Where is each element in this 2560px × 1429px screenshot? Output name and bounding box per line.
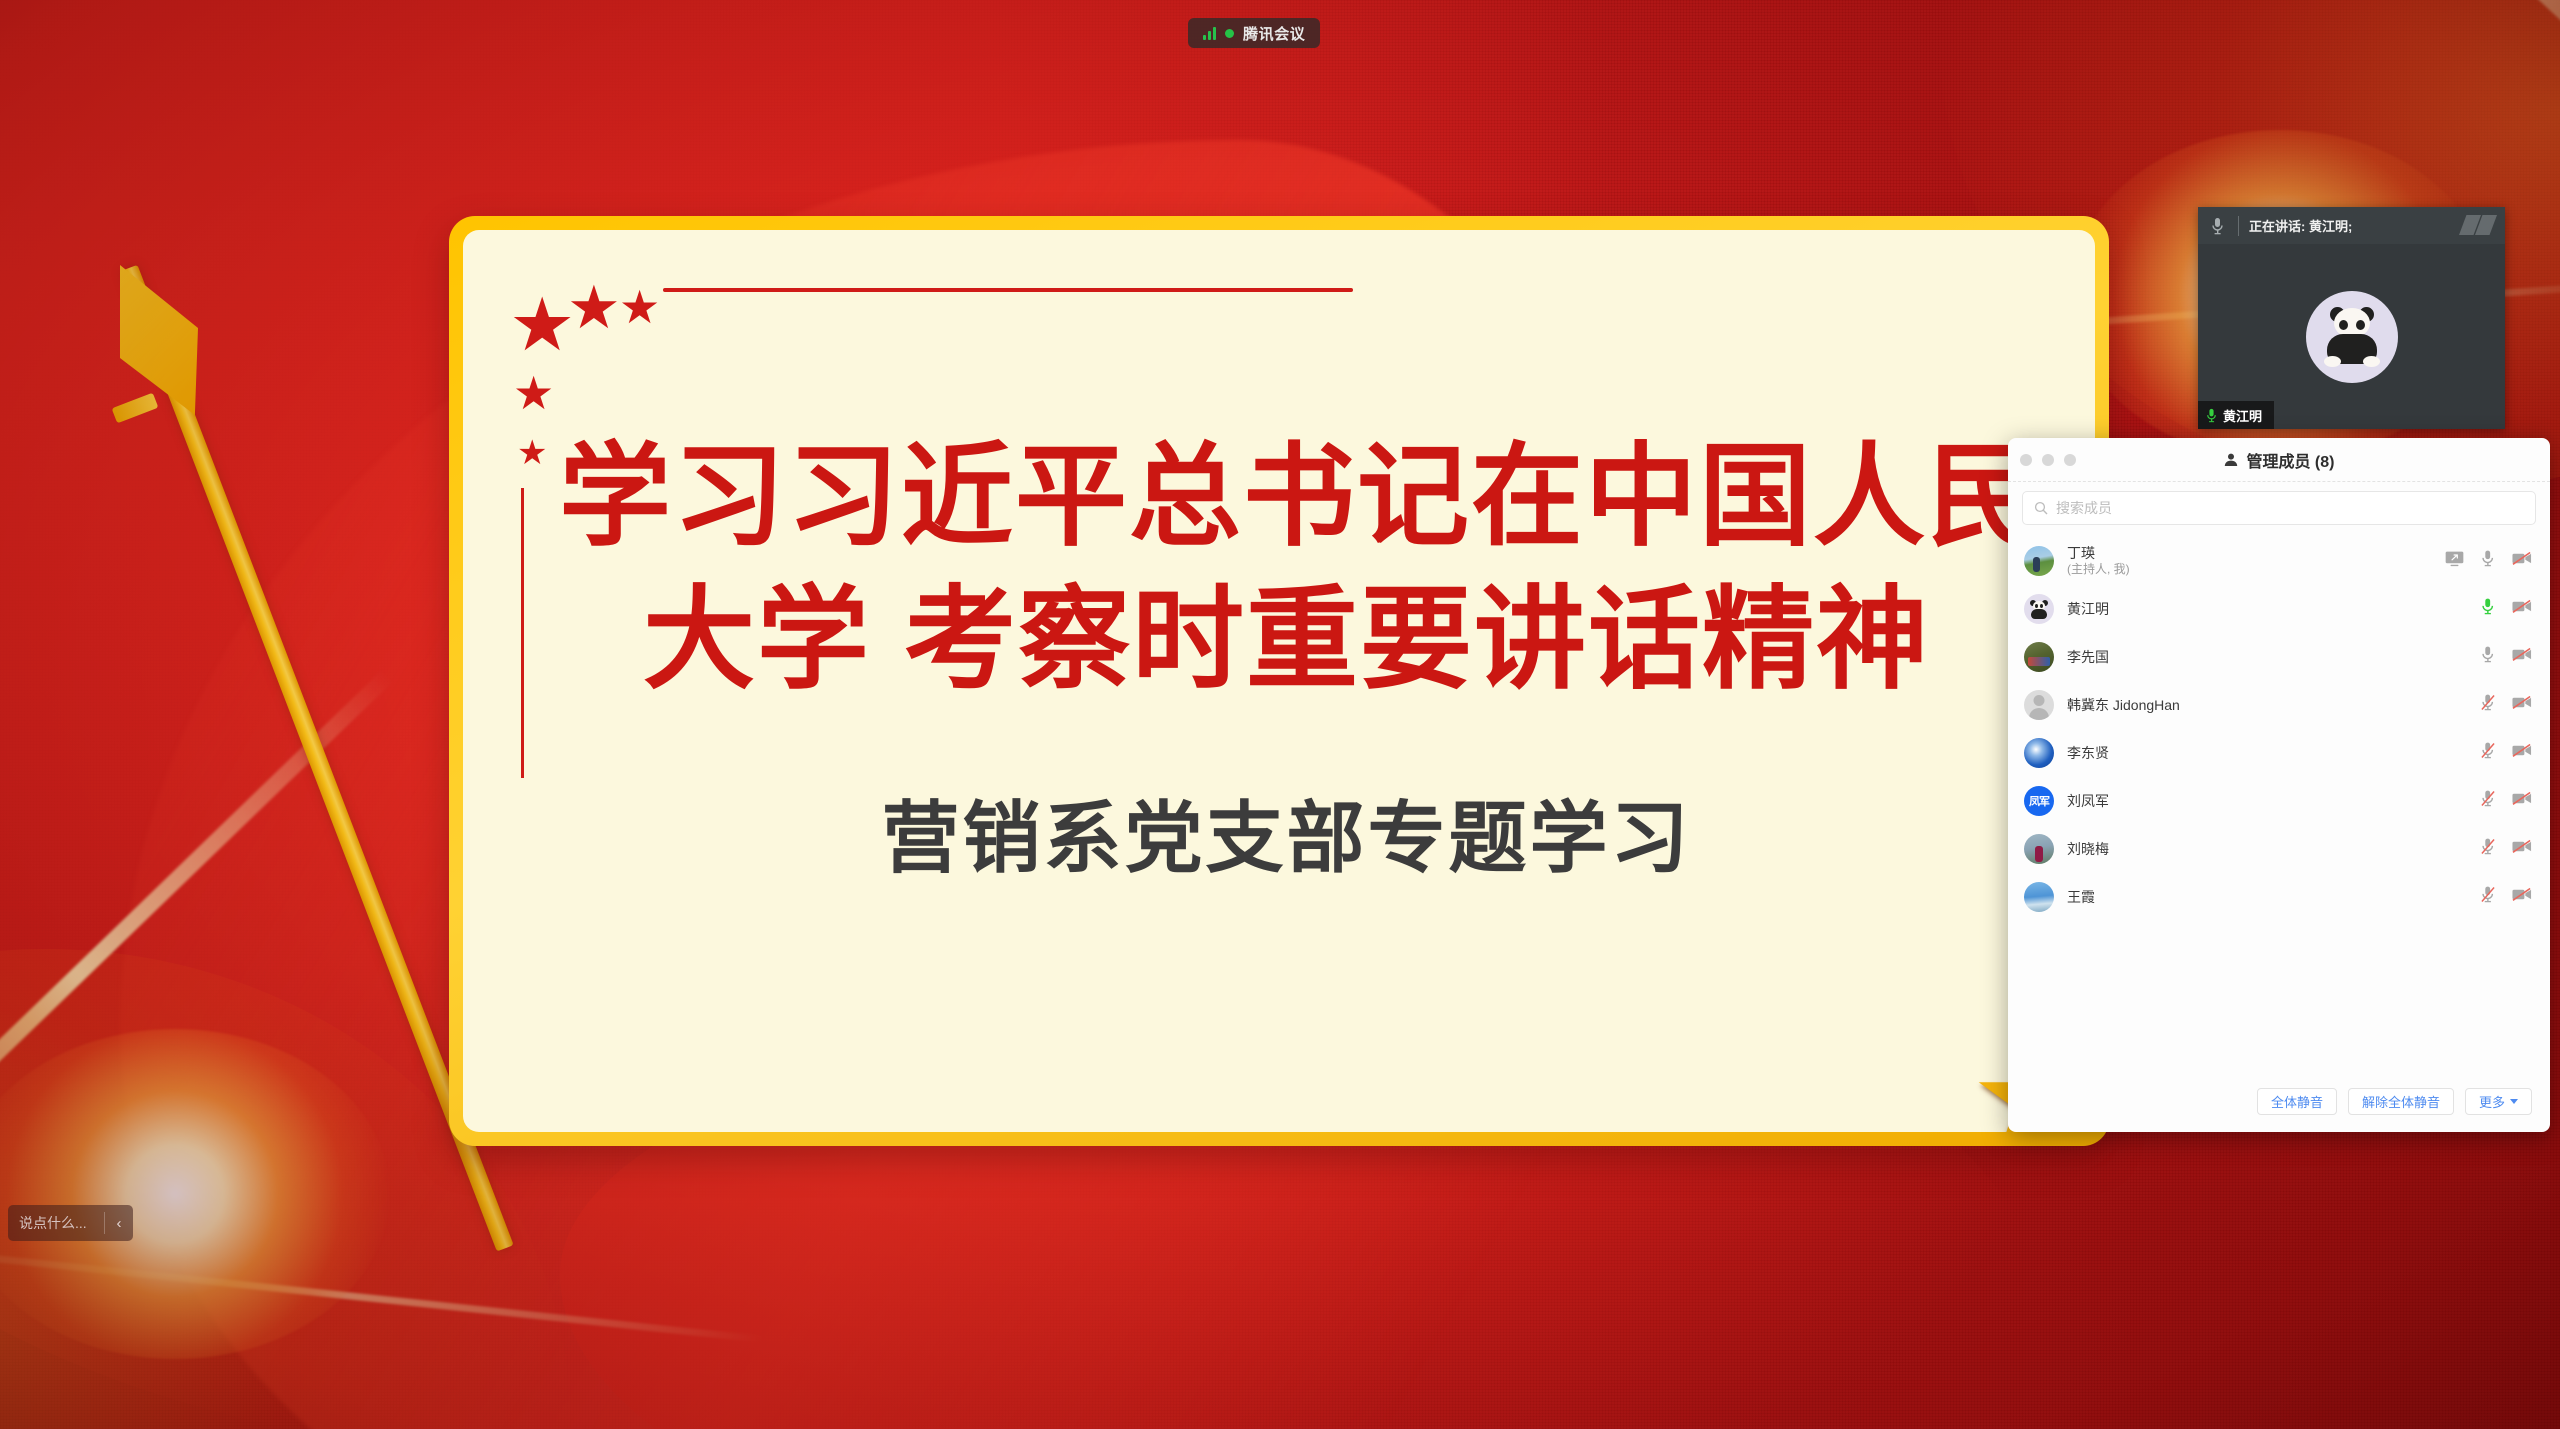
slide-title-line-2: 大学 考察时重要讲话精神 <box>559 568 2014 711</box>
microphone-muted-icon[interactable] <box>2481 741 2495 765</box>
member-name: 王霞 <box>2067 889 2481 905</box>
member-text: 王霞 <box>2067 889 2481 905</box>
avatar <box>2024 642 2054 672</box>
members-panel-title-group: 管理成员 (8) <box>2223 448 2334 472</box>
star-1-icon: ★ <box>509 288 575 362</box>
search-container: 搜索成员 <box>2008 482 2550 535</box>
member-name: 李先国 <box>2067 649 2481 665</box>
camera-off-icon[interactable] <box>2512 839 2532 859</box>
tencent-meeting-badge[interactable]: 腾讯会议 <box>1188 18 1320 48</box>
member-actions <box>2481 885 2532 909</box>
member-text: 丁瑛(主持人, 我) <box>2067 545 2445 578</box>
avatar <box>2024 690 2054 720</box>
slide-title-block: 学习习近平总书记在中国人民 大学 考察时重要讲话精神 营销系党支部专题学习 <box>559 425 2014 888</box>
avatar: 凤军 <box>2024 786 2054 816</box>
member-text: 刘晓梅 <box>2067 841 2481 857</box>
camera-off-icon[interactable] <box>2512 551 2532 571</box>
member-text: 刘凤军 <box>2067 793 2481 809</box>
member-actions <box>2481 837 2532 861</box>
screen-share-icon[interactable] <box>2445 551 2464 572</box>
member-text: 韩冀东 JidongHan <box>2067 697 2481 713</box>
member-actions <box>2481 597 2532 621</box>
microphone-icon <box>2206 217 2228 235</box>
member-name: 黄江明 <box>2067 601 2481 617</box>
member-actions <box>2481 693 2532 717</box>
member-name: 刘凤军 <box>2067 793 2481 809</box>
member-row[interactable]: 韩冀东 JidongHan <box>2008 681 2550 729</box>
slide-subtitle: 营销系党支部专题学习 <box>559 776 2014 888</box>
member-list[interactable]: 丁瑛(主持人, 我)黄江明李先国韩冀东 JidongHan李东贤凤军刘凤军刘晓梅… <box>2008 535 2550 1074</box>
member-row[interactable]: 王霞 <box>2008 873 2550 921</box>
video-participant-name-badge: 黄江明 <box>2198 401 2274 429</box>
search-input[interactable]: 搜索成员 <box>2022 491 2536 525</box>
microphone-muted-icon[interactable] <box>2481 789 2495 813</box>
microphone-active-icon <box>2206 408 2217 423</box>
chevron-down-icon <box>2510 1099 2518 1104</box>
member-actions <box>2481 645 2532 669</box>
collapse-chevron-icon[interactable]: ‹ <box>105 1215 133 1232</box>
chat-input-placeholder: 说点什么... <box>8 1213 104 1233</box>
microphone-muted-icon[interactable] <box>2481 693 2495 717</box>
avatar <box>2024 738 2054 768</box>
member-row[interactable]: 李东贤 <box>2008 729 2550 777</box>
slide-title-line-1: 学习习近平总书记在中国人民 <box>559 425 2014 568</box>
microphone-icon[interactable] <box>2481 597 2495 621</box>
member-name: 丁瑛 <box>2067 545 2445 561</box>
camera-off-icon[interactable] <box>2512 647 2532 667</box>
microphone-icon[interactable] <box>2481 645 2495 669</box>
mute-all-button[interactable]: 全体静音 <box>2257 1088 2337 1115</box>
signal-bars-icon <box>1203 26 1216 40</box>
speaking-label: 正在讲话: 黄江明; <box>2249 216 2352 235</box>
member-row[interactable]: 刘晓梅 <box>2008 825 2550 873</box>
video-participant-name: 黄江明 <box>2223 406 2262 425</box>
green-status-dot <box>1225 29 1234 38</box>
member-text: 黄江明 <box>2067 601 2481 617</box>
video-tile-header: 正在讲话: 黄江明; <box>2198 207 2505 244</box>
person-icon <box>2223 452 2239 468</box>
search-placeholder: 搜索成员 <box>2056 498 2112 518</box>
avatar <box>2024 834 2054 864</box>
panda-avatar <box>2306 291 2398 383</box>
member-row[interactable]: 李先国 <box>2008 633 2550 681</box>
member-name: 韩冀东 JidongHan <box>2067 697 2481 713</box>
more-button-label: 更多 <box>2479 1092 2505 1111</box>
microphone-icon[interactable] <box>2481 549 2495 573</box>
star-2-icon: ★ <box>567 278 621 338</box>
camera-off-icon[interactable] <box>2512 599 2532 619</box>
members-panel-title: 管理成员 (8) <box>2246 448 2334 472</box>
more-button[interactable]: 更多 <box>2465 1088 2532 1115</box>
member-role: (主持人, 我) <box>2067 562 2445 578</box>
member-name: 刘晓梅 <box>2067 841 2481 857</box>
chevrons-icon[interactable] <box>2459 215 2497 235</box>
camera-off-icon[interactable] <box>2512 695 2532 715</box>
camera-off-icon[interactable] <box>2512 743 2532 763</box>
window-controls[interactable] <box>2020 454 2076 466</box>
member-text: 李东贤 <box>2067 745 2481 761</box>
title-rule <box>663 288 1353 292</box>
camera-off-icon[interactable] <box>2512 887 2532 907</box>
star-4-icon: ★ <box>513 370 554 416</box>
search-icon <box>2034 501 2048 515</box>
minimize-button[interactable] <box>2042 454 2054 466</box>
member-name: 李东贤 <box>2067 745 2481 761</box>
avatar <box>2024 594 2054 624</box>
member-actions <box>2445 549 2532 573</box>
member-text: 李先国 <box>2067 649 2481 665</box>
camera-off-icon[interactable] <box>2512 791 2532 811</box>
members-panel-footer: 全体静音 解除全体静音 更多 <box>2008 1074 2550 1132</box>
unmute-all-button[interactable]: 解除全体静音 <box>2348 1088 2454 1115</box>
close-button[interactable] <box>2020 454 2032 466</box>
header-divider <box>2238 216 2239 236</box>
video-tile-body: 黄江明 <box>2198 244 2505 429</box>
avatar <box>2024 546 2054 576</box>
side-rule <box>521 488 524 778</box>
microphone-muted-icon[interactable] <box>2481 885 2495 909</box>
meeting-app-label: 腾讯会议 <box>1243 23 1305 44</box>
video-tile[interactable]: 正在讲话: 黄江明; 黄江明 <box>2198 207 2505 429</box>
members-panel: 管理成员 (8) 搜索成员 丁瑛(主持人, 我)黄江明李先国韩冀东 Jidong… <box>2008 438 2550 1132</box>
star-5-icon: ★ <box>517 436 547 470</box>
chat-composer[interactable]: 说点什么... ‹ <box>8 1205 133 1241</box>
member-row[interactable]: 凤军刘凤军 <box>2008 777 2550 825</box>
member-actions <box>2481 789 2532 813</box>
meeting-screen: ★ ★ ★ ★ ★ 学习习近平总书记在中国人民 大学 考察时重要讲话精神 营销系… <box>0 0 2560 1429</box>
member-row[interactable]: 丁瑛(主持人, 我) <box>2008 537 2550 585</box>
member-actions <box>2481 741 2532 765</box>
star-3-icon: ★ <box>619 284 660 330</box>
member-row[interactable]: 黄江明 <box>2008 585 2550 633</box>
maximize-button[interactable] <box>2064 454 2076 466</box>
members-panel-header: 管理成员 (8) <box>2008 438 2550 482</box>
microphone-muted-icon[interactable] <box>2481 837 2495 861</box>
avatar <box>2024 882 2054 912</box>
slide-card: ★ ★ ★ ★ ★ 学习习近平总书记在中国人民 大学 考察时重要讲话精神 营销系… <box>449 216 2109 1146</box>
